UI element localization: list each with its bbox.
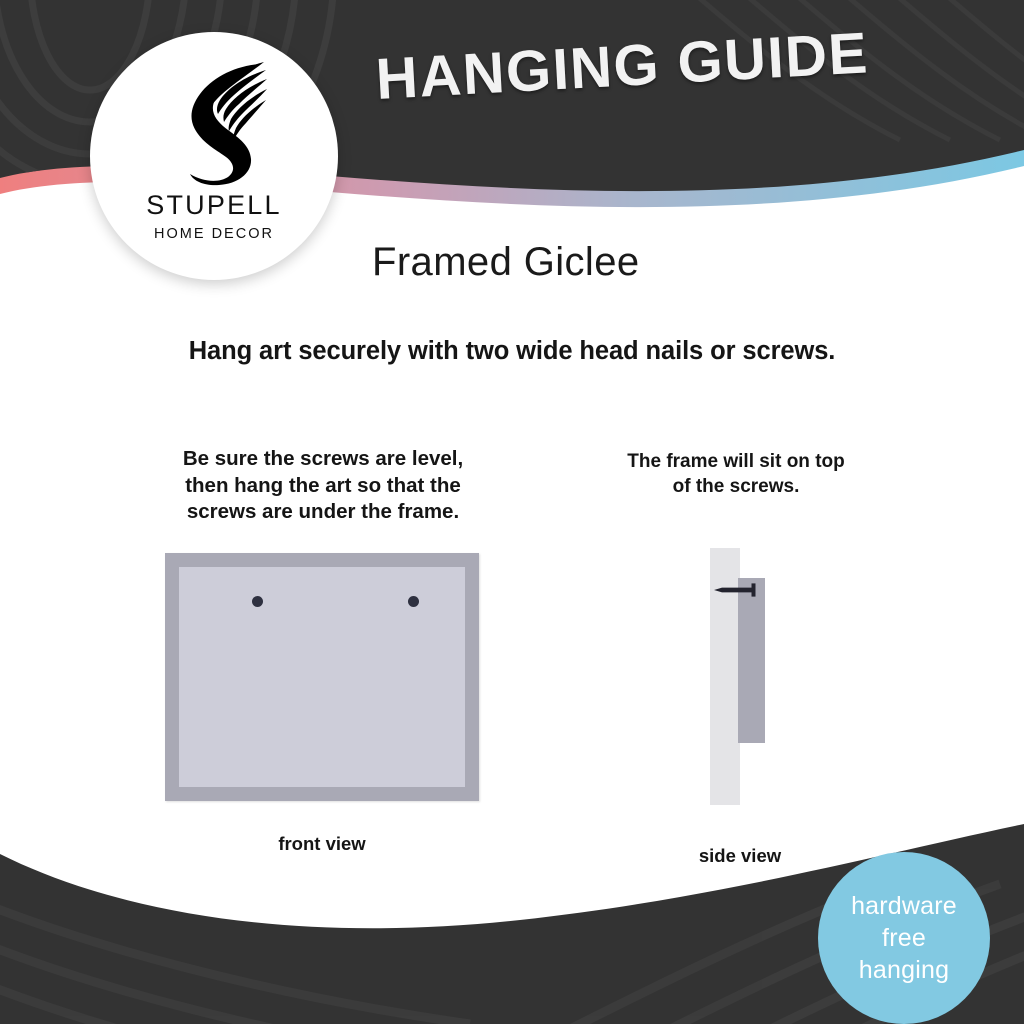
brand-tagline: HOME DECOR [154, 227, 274, 242]
front-view-instruction-line-2: then hang the art so that the [142, 473, 504, 500]
lead-instruction-text: Hang art securely with two wide head nai… [0, 337, 1024, 366]
brand-logo-badge: STUPELL HOME DECOR [90, 32, 338, 280]
brand-name: STUPELL [146, 192, 281, 219]
nail-icon [712, 581, 760, 599]
front-view-frame-diagram [165, 553, 479, 801]
side-view-instructions: The frame will sit on top of the screws. [577, 450, 895, 499]
front-view-instruction-line-1: Be sure the screws are level, [142, 446, 504, 473]
stupell-swoosh-logo-icon [156, 58, 272, 186]
side-view-diagram [700, 545, 780, 807]
hardware-free-hanging-badge: hardware free hanging [818, 852, 990, 1024]
page-title: HANGING GUIDE [374, 18, 897, 113]
side-view-instruction-line-1: The frame will sit on top [577, 450, 895, 475]
front-view-instructions: Be sure the screws are level, then hang … [142, 446, 504, 526]
screw-dot-left-icon [252, 596, 263, 607]
side-view-label: side view [640, 845, 840, 867]
front-view-label: front view [165, 833, 479, 855]
badge-line-2: free [882, 922, 926, 954]
screw-dot-right-icon [408, 596, 419, 607]
badge-line-1: hardware [851, 890, 957, 922]
badge-line-3: hanging [859, 954, 949, 986]
front-view-instruction-line-3: screws are under the frame. [142, 499, 504, 526]
side-view-frame [738, 578, 765, 743]
product-type-label: Framed Giclee [372, 240, 640, 285]
side-view-instruction-line-2: of the screws. [577, 475, 895, 500]
front-view-mat [179, 567, 465, 787]
